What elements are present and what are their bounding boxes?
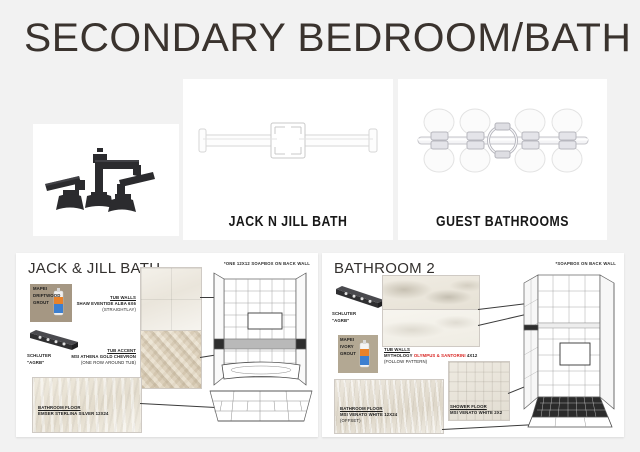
design-board-page: SECONDARY BEDROOM/BATH [0, 0, 640, 452]
shower-render-left [208, 269, 316, 431]
towel-bar-image [183, 79, 393, 206]
schluter-line-2: "AGRB" [332, 318, 356, 325]
grout-line-2: IVORY [340, 344, 356, 351]
schluter-line-1: SCHLUTER [332, 311, 356, 318]
tub-walls-accent: OLYMPUS & SANTORINI [414, 353, 466, 358]
vanity-light-image [398, 79, 607, 206]
label-schluter: SCHLUTER "AGRB" [332, 311, 356, 325]
label-tub-walls: TUB WALLS SHAW EVENTIDE ALBA 6X6 (STRAIG… [70, 295, 136, 314]
board-jack-and-jill[interactable]: JACK & JILL BATH *ONE 12X12 SOAPBOX ON B… [16, 253, 318, 437]
schluter-line-2: "AGRB" [27, 360, 51, 367]
swatch-tub-walls-olympus[interactable] [382, 275, 480, 311]
product-card-vanity-light[interactable]: GUEST BATHROOMS [398, 79, 607, 240]
swatch-tub-accent[interactable] [140, 330, 202, 389]
label-bathroom-floor: BATHROOM FLOOR MSI VENATO WHITE 12X24 (O… [340, 406, 397, 425]
board-note: *SOAPBOX ON BACK WALL [556, 261, 617, 266]
grout-line-3: GROUT [340, 351, 356, 358]
label-grout: MAPEI DRIFTWOOD GROUT [33, 286, 60, 307]
faucet-image [33, 124, 179, 236]
shower-floor-product: MSI VENATO WHITE 2X2 [450, 410, 502, 416]
grout-line-2: DRIFTWOOD [33, 293, 60, 300]
label-grout: MAPEI IVORY GROUT [340, 337, 356, 358]
label-tub-accent: TUB ACCENT MSI ATHENA GOLD CHEVRON (ONE … [66, 348, 136, 367]
swatch-tub-walls[interactable] [140, 267, 202, 331]
label-shower-floor: SHOWER FLOOR MSI VENATO WHITE 2X2 [450, 404, 502, 416]
board-note: *ONE 12X12 SOAPBOX ON BACK WALL [224, 261, 310, 266]
tub-walls-suffix: 4X12 [466, 353, 478, 358]
product-card-towel-bar[interactable]: JACK N JILL BATH [183, 79, 393, 240]
label-bathroom-floor: BATHROOM FLOOR EMSER STERLINA SILVER 12X… [38, 405, 109, 417]
page-title: SECONDARY BEDROOM/BATH [24, 16, 631, 61]
bathroom-floor-product: EMSER STERLINA SILVER 12X24 [38, 411, 109, 417]
bathroom-floor-note: (OFFSET) [340, 418, 397, 424]
tub-accent-note: (ONE ROW AROUND TUB) [66, 360, 136, 366]
product-card-faucet[interactable] [33, 124, 179, 236]
schluter-line-1: SCHLUTER [27, 353, 51, 360]
towel-bar-caption: JACK N JILL BATH [202, 213, 374, 230]
board-bathroom-2[interactable]: BATHROOM 2 *SOAPBOX ON BACK WALL SCHLUTE… [322, 253, 624, 437]
grout-line-1: MAPEI [33, 286, 60, 293]
grout-line-3: GROUT [33, 300, 60, 307]
vanity-light-caption: GUEST BATHROOMS [417, 213, 588, 230]
swatch-tub-walls-santorini[interactable] [382, 309, 480, 347]
label-schluter: SCHLUTER "AGRB" [27, 353, 51, 367]
tub-walls-prefix: MYTHOLOGY [384, 353, 414, 358]
grout-line-1: MAPEI [340, 337, 356, 344]
shower-render-right [516, 267, 622, 433]
tub-walls-note: (STRAIGHTLAY) [70, 307, 136, 313]
